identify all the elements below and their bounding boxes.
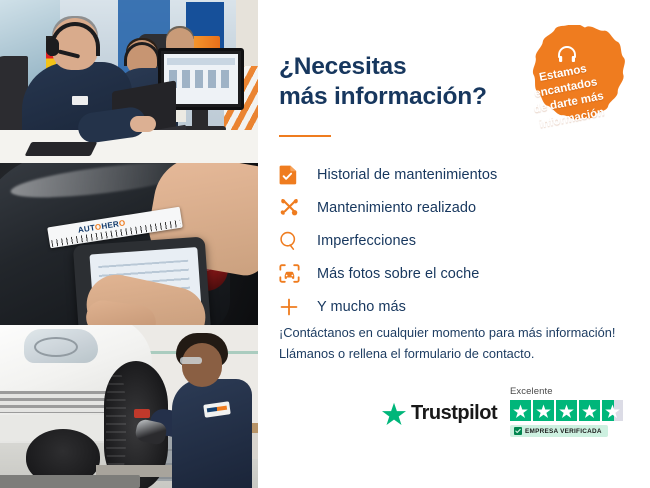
trustpilot-logo: Trustpilot	[382, 402, 497, 425]
feature-list: Historial de mantenimientos M	[279, 158, 619, 323]
feature-icon-wrap	[279, 264, 317, 283]
star-rating	[510, 400, 632, 421]
star-icon	[536, 404, 551, 418]
star-4	[579, 400, 600, 421]
feature-icon-wrap	[279, 197, 317, 218]
verified-business-badge: EMPRESA VERIFICADA	[510, 425, 608, 437]
paragraph-line-2: Llámanos o rellena el formulario de cont…	[279, 344, 639, 365]
feature-item-imperfecciones: Imperfecciones	[279, 224, 619, 257]
content-panel: ¿Necesitas más información? Estamos enca…	[258, 0, 650, 488]
headline-line-1: ¿Necesitas	[279, 52, 529, 82]
plus-icon	[279, 297, 299, 317]
trustpilot-score-block: Excelente	[510, 386, 632, 439]
feature-icon-wrap	[279, 164, 317, 185]
feature-label: Más fotos sobre el coche	[317, 266, 479, 282]
feature-label: Imperfecciones	[317, 233, 416, 249]
info-request-banner: AUTOHERO	[0, 0, 650, 488]
star-3	[556, 400, 577, 421]
promo-starburst-badge: Estamos encantados de darte más informac…	[504, 25, 630, 151]
verified-label: EMPRESA VERIFICADA	[525, 428, 602, 435]
headline-line-2: más información?	[279, 82, 529, 112]
contact-paragraph: ¡Contáctanos en cualquier momento para m…	[279, 323, 639, 364]
document-check-icon	[279, 164, 298, 185]
title-underline-rule	[279, 135, 331, 137]
check-glyph-icon	[515, 428, 521, 434]
star-icon	[559, 404, 574, 418]
badge-text-wrap: Estamos encantados de darte más informac…	[504, 25, 630, 151]
star-2	[533, 400, 554, 421]
feature-item-mas: Y mucho más	[279, 290, 619, 323]
trustpilot-rating: Trustpilot Excelente	[382, 386, 632, 448]
car-photo-scan-icon	[279, 264, 300, 283]
check-icon	[514, 427, 522, 435]
badge-text: Estamos encantados de darte más informac…	[526, 59, 607, 132]
feature-icon-wrap	[279, 231, 317, 251]
star-icon	[513, 404, 528, 418]
feature-icon-wrap	[279, 297, 317, 317]
mechanic-wheel-inspection-photo	[0, 325, 258, 488]
paragraph-line-1: ¡Contáctanos en cualquier momento para m…	[279, 323, 639, 344]
feature-item-mantenimiento: Mantenimiento realizado	[279, 191, 619, 224]
call-center-agents-photo	[0, 0, 258, 163]
magnifier-icon	[279, 231, 299, 251]
photo-column: AUTOHERO	[0, 0, 258, 488]
feature-item-historial: Historial de mantenimientos	[279, 158, 619, 191]
star-5-partial	[602, 400, 623, 421]
wrench-screwdriver-icon	[279, 197, 300, 218]
star-icon	[582, 404, 597, 418]
page-title: ¿Necesitas más información?	[279, 52, 529, 112]
star-1	[510, 400, 531, 421]
trustpilot-star-icon	[382, 402, 406, 425]
vehicle-inspection-ruler-photo: AUTOHERO	[0, 163, 258, 325]
rating-label: Excelente	[510, 386, 632, 397]
feature-item-fotos: Más fotos sobre el coche	[279, 257, 619, 290]
trustpilot-wordmark: Trustpilot	[411, 402, 497, 425]
feature-label: Y mucho más	[317, 299, 406, 315]
feature-label: Historial de mantenimientos	[317, 167, 497, 183]
star-icon	[605, 404, 620, 418]
feature-label: Mantenimiento realizado	[317, 200, 476, 216]
